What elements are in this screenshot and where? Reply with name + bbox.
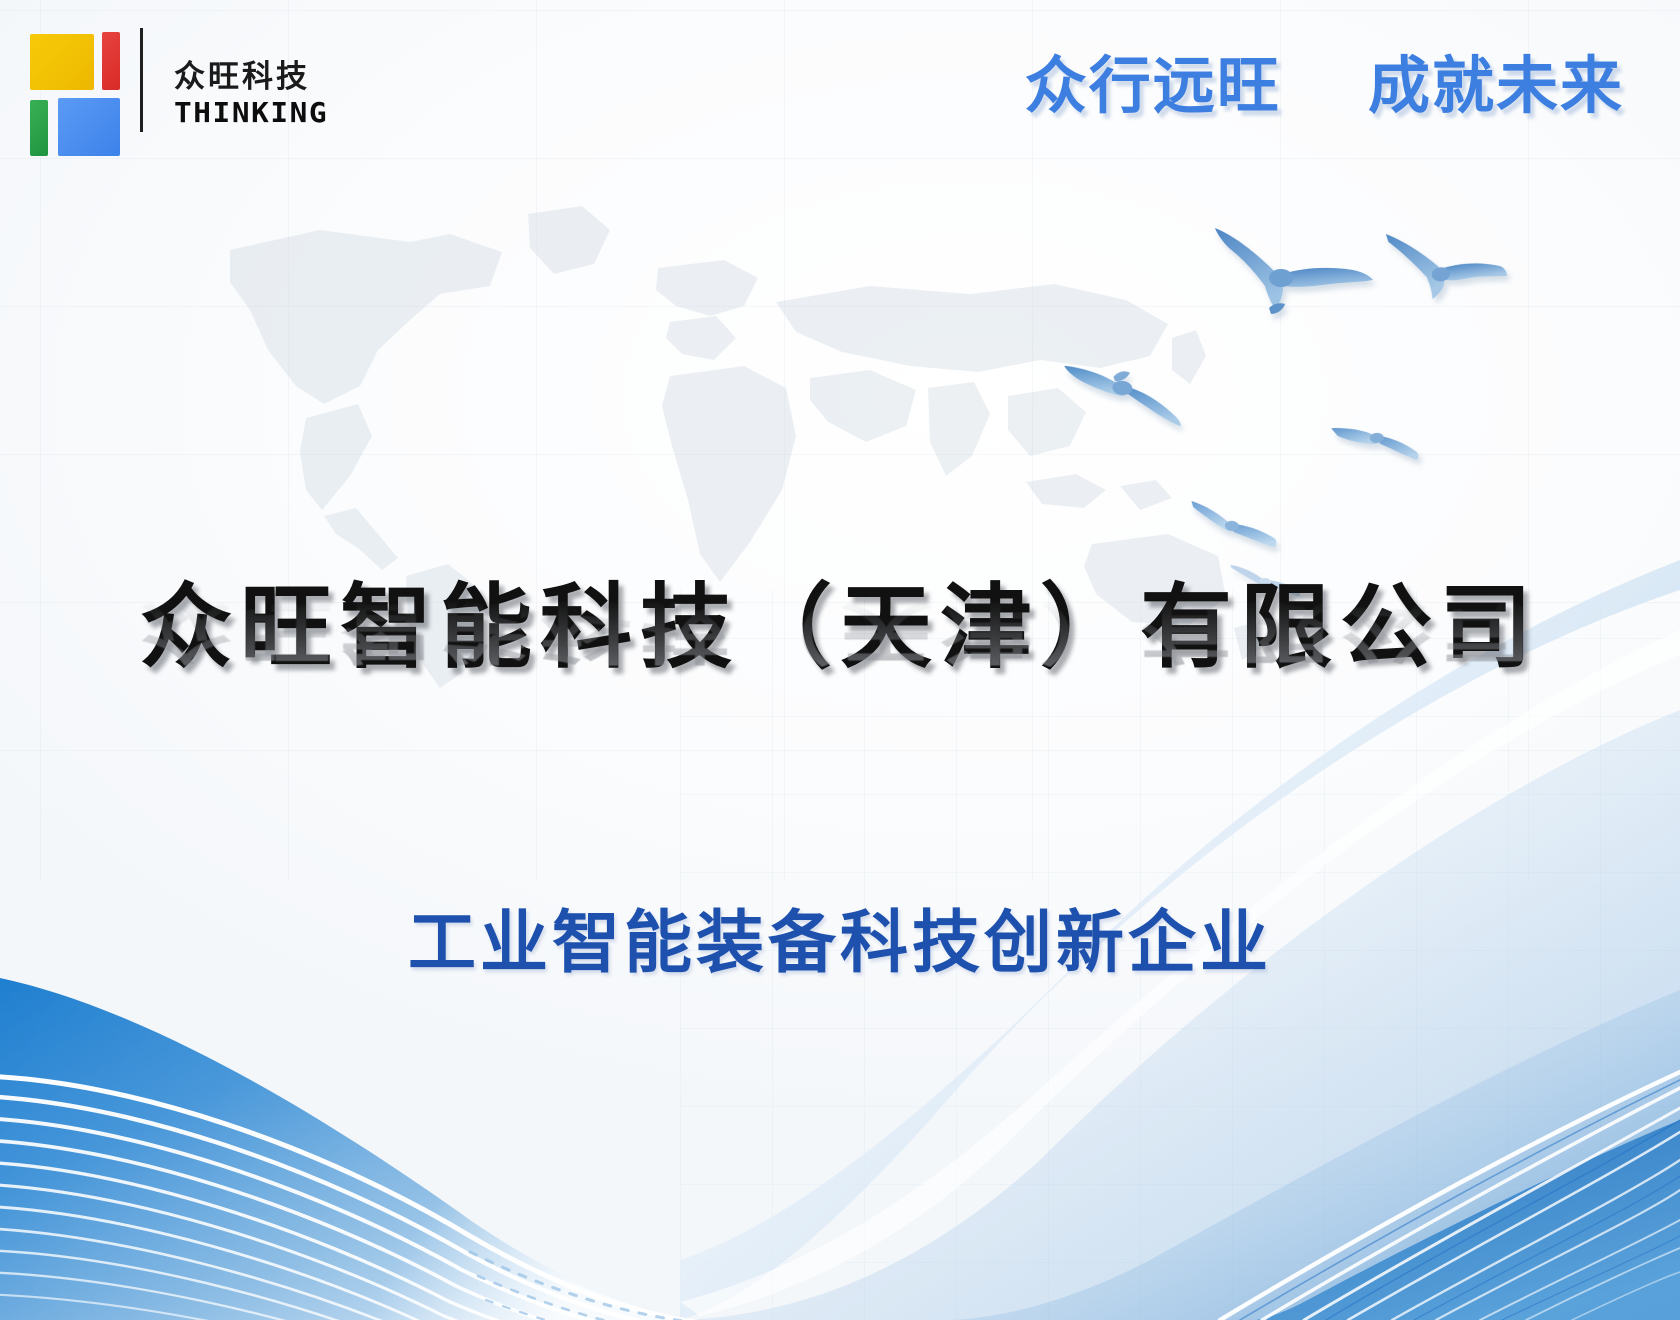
seagull-icon: [1329, 416, 1421, 469]
logo-yellow-square: [30, 34, 94, 90]
tagline-part-2: 成就未来: [1368, 49, 1624, 122]
logo-mark-icon: [28, 30, 138, 158]
logo-blue-square: [58, 98, 120, 156]
seagull-icon: [1055, 351, 1191, 430]
logo-red-bar: [102, 32, 120, 90]
header-tagline: 众行远旺 成就未来: [1025, 52, 1624, 120]
logo-english-name: THINKING: [174, 99, 328, 127]
seagull-icon: [1205, 222, 1375, 318]
logo-wordmark: 众旺科技 THINKING: [174, 62, 321, 127]
logo-chinese-name: 众旺科技: [174, 62, 321, 93]
decoration-left-swoosh: [0, 890, 1100, 1320]
seagull-icon: [1186, 497, 1281, 551]
logo-green-bar: [30, 100, 48, 156]
tagline-part-1: 众行远旺: [1025, 49, 1281, 122]
company-logo[interactable]: 众旺科技 THINKING: [28, 30, 321, 158]
seagull-icon: [1380, 222, 1511, 305]
logo-divider: [140, 28, 143, 132]
presentation-slide: 众旺科技 THINKING 众行远旺 成就未来 众旺智能科技（天津）有限公司 众…: [0, 0, 1680, 1320]
